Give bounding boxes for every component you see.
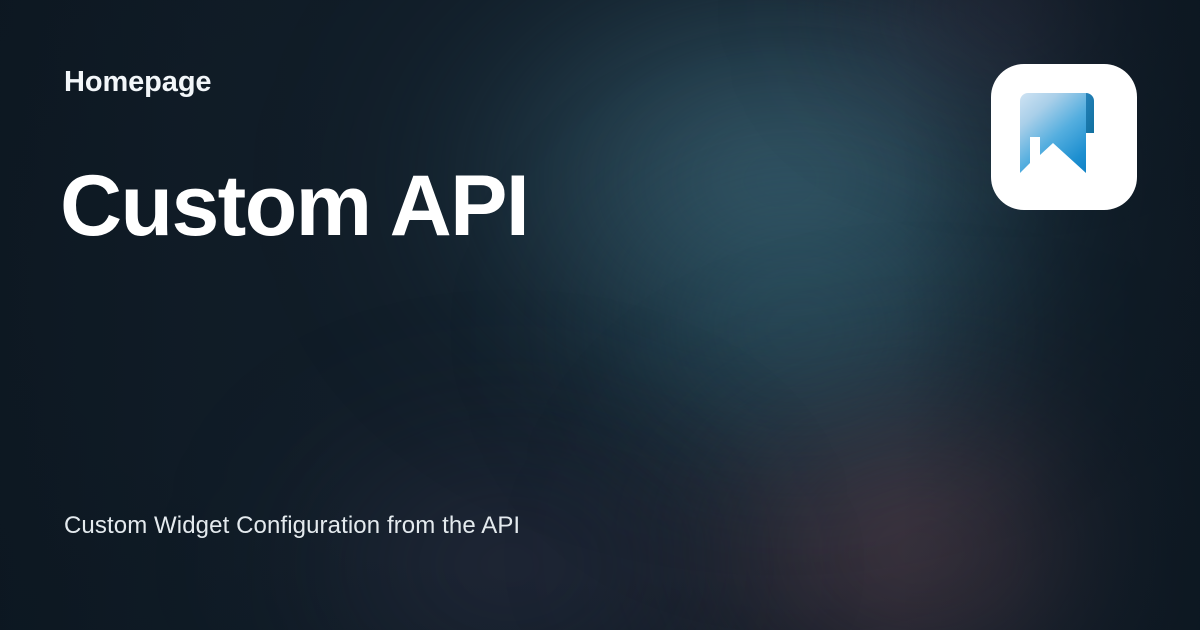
og-preview-card: Homepage Custom API Custom Widget Config… (0, 0, 1200, 630)
page-title: Custom API (60, 161, 528, 251)
homepage-bookmark-house-icon (1014, 87, 1114, 187)
breadcrumb-eyebrow: Homepage (64, 67, 211, 99)
page-subtitle: Custom Widget Configuration from the API (64, 512, 520, 541)
card-content: Homepage Custom API Custom Widget Config… (0, 0, 1200, 630)
app-icon-tile (991, 64, 1137, 210)
